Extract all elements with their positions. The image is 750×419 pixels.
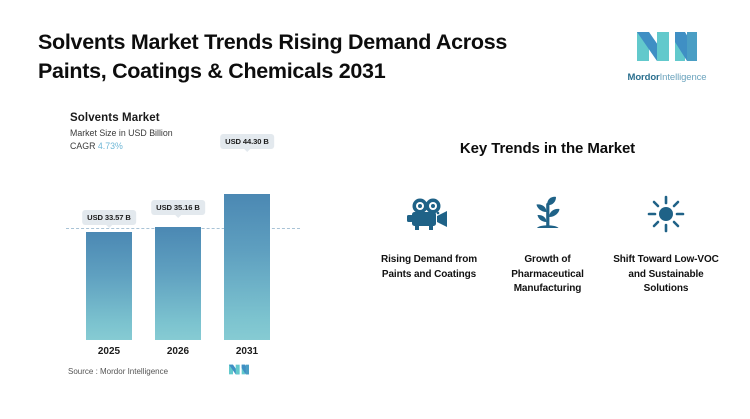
bar-2026 [155,227,201,340]
trend-label-pharmaceutical: Growth of Pharmaceutical Manufacturing [494,253,602,297]
mordor-m-logo-icon [228,362,250,380]
bar-group-2031: USD 44.30 B [224,194,270,340]
film-camera-icon [407,193,451,235]
sun-icon [647,193,685,235]
bar-value-badge-2025: USD 33.57 B [82,210,136,225]
header: Solvents Market Trends Rising Demand Acr… [38,28,578,86]
page-title: Solvents Market Trends Rising Demand Acr… [38,28,578,86]
trends-title: Key Trends in the Market [375,140,720,157]
x-axis-label-2025: 2025 [98,346,120,357]
trend-row: Rising Demand from Paints and Coatings G… [375,193,720,297]
bar-2025 [86,232,132,340]
brand-logo: MordorIntelligence [612,30,722,83]
mordor-m-logo-icon [635,30,699,68]
chart-header-block: Solvents Market Market Size in USD Billi… [70,112,330,151]
source-text: Source : Mordor Intelligence [68,367,168,376]
bar-2031 [224,194,270,340]
bar-chart-plot: USD 33.57 B USD 35.16 B USD 44.30 B 2025… [60,168,300,340]
plant-sprout-icon [529,193,567,235]
trend-item-low-voc: Shift Toward Low-VOC and Sustainable Sol… [612,193,720,297]
trend-item-paints-coatings: Rising Demand from Paints and Coatings [375,193,483,282]
brand-name-light: Intelligence [660,72,707,83]
x-axis-label-2026: 2026 [167,346,189,357]
bar-value-badge-2031: USD 44.30 B [220,134,274,149]
brand-wordmark: MordorIntelligence [628,72,707,83]
cagr-label: CAGR [70,141,95,151]
brand-name-bold: Mordor [628,72,660,83]
bar-group-2026: USD 35.16 B [155,227,201,340]
chart-title: Solvents Market [70,112,330,124]
x-axis-label-2031: 2031 [236,346,258,357]
chart-subtitle: Market Size in USD Billion [70,128,330,138]
chart-cagr: CAGR 4.73% [70,141,330,151]
bar-value-badge-2026: USD 35.16 B [151,200,205,215]
source-row: Source : Mordor Intelligence [68,362,250,380]
key-trends-panel: Key Trends in the Market [375,140,720,297]
trend-item-pharmaceutical: Growth of Pharmaceutical Manufacturing [494,193,602,297]
trend-label-low-voc: Shift Toward Low-VOC and Sustainable Sol… [612,253,720,297]
cagr-value: 4.73% [98,141,123,151]
bar-group-2025: USD 33.57 B [86,232,132,340]
trend-label-paints-coatings: Rising Demand from Paints and Coatings [375,253,483,282]
